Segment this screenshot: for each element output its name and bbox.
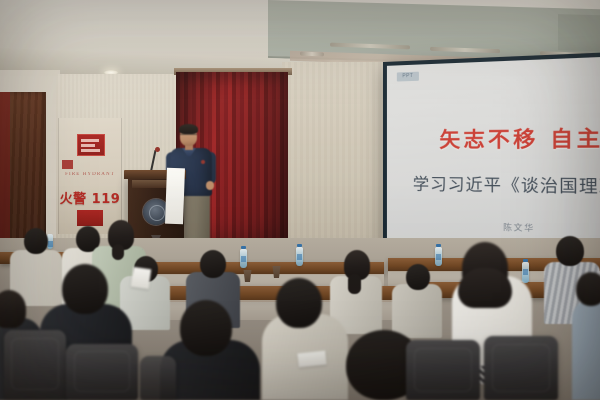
bottle-cap: [436, 244, 441, 247]
attendee-body: [392, 284, 442, 338]
attendee-ponytail: [348, 274, 361, 294]
speaker-notes-paper: [165, 168, 185, 225]
projection-screen: PPT 矢志不移 自主 学习习近平《谈治国理政 陈文华 20: [383, 52, 600, 259]
attendee-head: [180, 300, 232, 356]
attendee-body: [572, 300, 600, 400]
chair: [484, 336, 558, 400]
podium-seal-ring: [149, 205, 165, 221]
chair: [140, 356, 176, 400]
handout-paper: [131, 267, 152, 289]
chair: [66, 344, 138, 400]
water-bottle: [240, 249, 247, 268]
microphone-head: [155, 147, 160, 152]
bottle-cap: [241, 246, 246, 249]
screen-logo-badge: PPT: [397, 72, 419, 82]
speaker-glasses: [180, 134, 197, 139]
attendee-ponytail: [112, 244, 124, 260]
water-bottle: [435, 247, 442, 266]
attendee-head: [24, 228, 48, 254]
slide-title: 矢志不移 自主: [439, 119, 600, 153]
projection-screen-surface: PPT 矢志不移 自主 学习习近平《谈治国理政 陈文华 20: [387, 56, 600, 254]
attendee-head: [276, 278, 322, 328]
attendee-hair-volume: [458, 268, 512, 308]
bottle-cap: [297, 244, 302, 247]
chair: [406, 340, 480, 400]
handout-paper: [297, 351, 326, 368]
attendee-head: [556, 236, 584, 266]
chair: [4, 330, 66, 400]
slide-presenter-name: 陈文华: [503, 222, 535, 235]
fire-bottom-sign: [77, 210, 103, 226]
fire-small-label: [62, 160, 73, 169]
ceiling-panel-inset: [558, 14, 600, 52]
water-bottle: [522, 262, 529, 283]
ceiling-slot-vent: [300, 52, 324, 57]
water-bottle: [296, 247, 303, 266]
lecture-hall-photo: FIRE HYDRANT 火警 119 PPT 矢志不移 自主 学习习近平《谈治…: [0, 0, 600, 400]
fire-warning-sign: [77, 134, 105, 156]
speaker-hand: [206, 181, 214, 190]
bottle-cap: [523, 259, 528, 262]
attendee-head: [62, 264, 108, 314]
wall-wood-panel-edge: [0, 92, 10, 252]
slide-subtitle: 学习习近平《谈治国理政: [413, 170, 600, 199]
attendee-head: [200, 250, 226, 278]
speaker-hair: [179, 124, 198, 134]
fire-hydrant-cabinet: FIRE HYDRANT 火警 119: [58, 118, 122, 234]
attendee-head: [576, 272, 600, 306]
speaker-shirt-logo: [201, 160, 205, 164]
fire-hydrant-label-cn: 火警 119: [59, 188, 121, 207]
fire-hydrant-label-en: FIRE HYDRANT: [59, 172, 121, 177]
attendee-head: [406, 264, 430, 290]
